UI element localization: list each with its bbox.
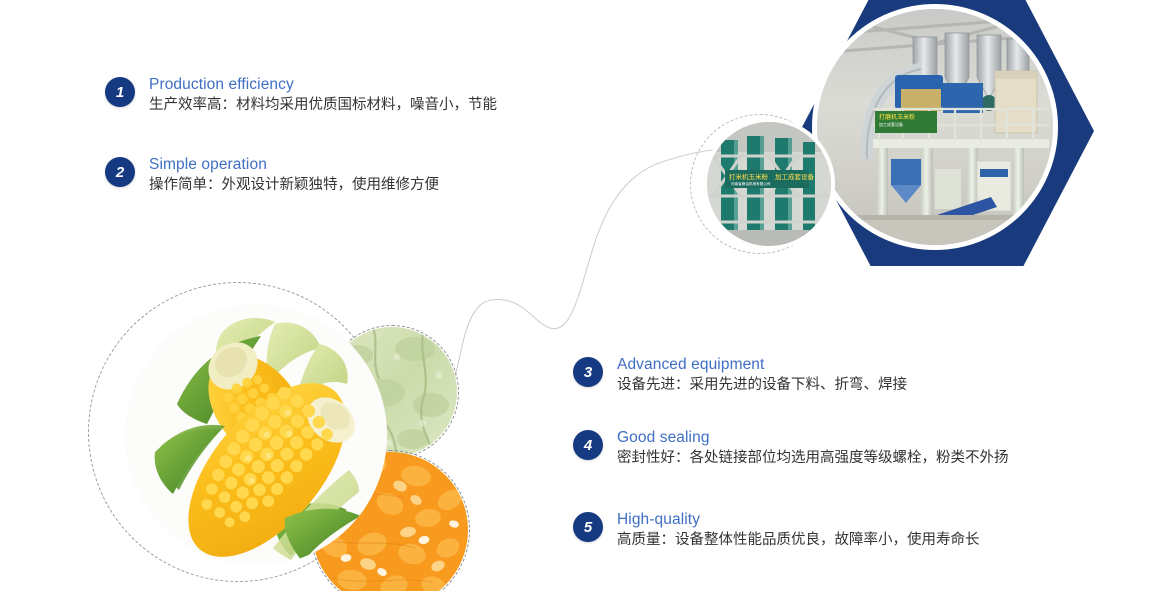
feature-item-5[interactable]: 5 High-quality 高质量：设备整体性能品质优良，故障率小，使用寿命长 (573, 510, 980, 551)
feature-text-2: Simple operation 操作简单：外观设计新颖独特，使用维修方便 (149, 155, 439, 196)
product-advantages-infographic: 打磨机玉米粉 加工成套设备 (0, 0, 1154, 591)
feature-item-4[interactable]: 4 Good sealing 密封性好：各处链接部位均选用高强度等级螺栓，粉类不… (573, 428, 1009, 469)
feature-heading-2: Simple operation (149, 155, 439, 174)
feature-description-1: 生产效率高：材料均采用优质国标材料，噪音小，节能 (149, 95, 497, 116)
feature-description-2: 操作简单：外观设计新颖独特，使用维修方便 (149, 175, 439, 196)
feature-item-3[interactable]: 3 Advanced equipment 设备先进：采用先进的设备下料、折弯、焊… (573, 355, 907, 396)
mill-large-photo-art: 打磨机玉米粉 加工成套设备 (817, 9, 1053, 245)
feature-number-badge-2: 2 (105, 157, 135, 187)
corn-cob-photo-art (125, 304, 387, 566)
feature-description-5: 高质量：设备整体性能品质优良，故障率小，使用寿命长 (617, 530, 980, 551)
corn-cob-photo (125, 304, 387, 566)
feature-heading-5: High-quality (617, 510, 980, 529)
feature-item-1[interactable]: 1 Production efficiency 生产效率高：材料均采用优质国标材… (105, 75, 497, 116)
mill-small-photo-art: 打米机玉米粉 加工成套设备 河南省粮油机械有限公司 (707, 122, 831, 246)
feature-item-2[interactable]: 2 Simple operation 操作简单：外观设计新颖独特，使用维修方便 (105, 155, 439, 196)
svg-text:打磨机玉米粉: 打磨机玉米粉 (879, 113, 915, 121)
svg-text:加工成套设备: 加工成套设备 (879, 121, 903, 127)
feature-description-4: 密封性好：各处链接部位均选用高强度等级螺栓，粉类不外扬 (617, 448, 1009, 469)
mill-small-photo: 打米机玉米粉 加工成套设备 河南省粮油机械有限公司 (703, 118, 835, 250)
feature-heading-1: Production efficiency (149, 75, 497, 94)
mill-large-photo: 打磨机玉米粉 加工成套设备 (812, 4, 1058, 250)
feature-number-badge-5: 5 (573, 512, 603, 542)
feature-number-badge-4: 4 (573, 430, 603, 460)
svg-text:加工成套设备: 加工成套设备 (775, 172, 815, 181)
feature-number-badge-3: 3 (573, 357, 603, 387)
feature-number-badge-1: 1 (105, 77, 135, 107)
svg-text:打米机玉米粉: 打米机玉米粉 (729, 172, 769, 181)
feature-heading-4: Good sealing (617, 428, 1009, 447)
feature-text-4: Good sealing 密封性好：各处链接部位均选用高强度等级螺栓，粉类不外扬 (617, 428, 1009, 469)
feature-text-1: Production efficiency 生产效率高：材料均采用优质国标材料，… (149, 75, 497, 116)
corn-products-media-group (88, 282, 470, 591)
feature-text-5: High-quality 高质量：设备整体性能品质优良，故障率小，使用寿命长 (617, 510, 980, 551)
milling-equipment-media-group: 打磨机玉米粉 加工成套设备 (690, 0, 1094, 268)
feature-heading-3: Advanced equipment (617, 355, 907, 374)
feature-description-3: 设备先进：采用先进的设备下料、折弯、焊接 (617, 375, 907, 396)
svg-text:河南省粮油机械有限公司: 河南省粮油机械有限公司 (731, 181, 771, 186)
feature-text-3: Advanced equipment 设备先进：采用先进的设备下料、折弯、焊接 (617, 355, 907, 396)
